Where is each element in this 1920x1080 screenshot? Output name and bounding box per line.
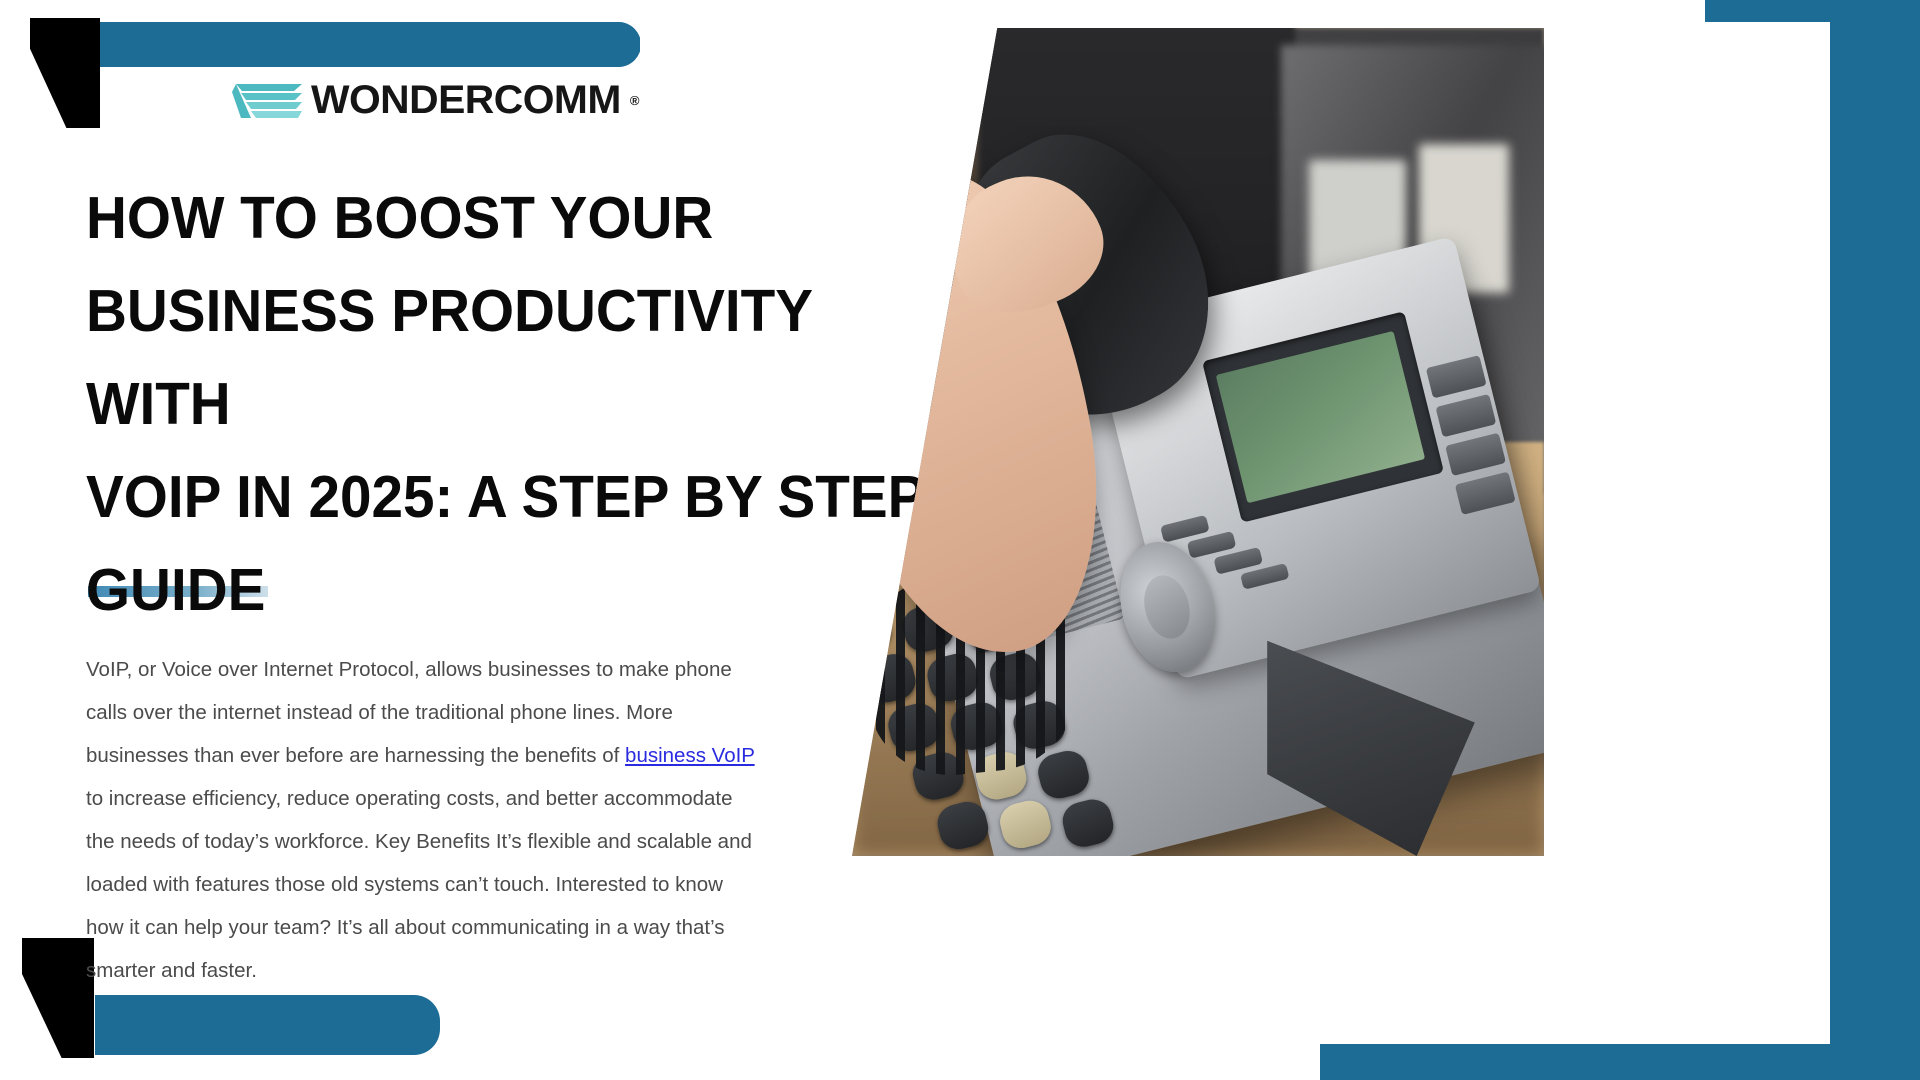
business-voip-link[interactable]: business VoIP [625,744,755,767]
top-left-black-wedge [30,18,100,128]
voip-desk-phone-photo [852,28,1544,856]
bottom-left-black-wedge [22,938,94,1058]
photo-content [852,28,1544,856]
brand-logo[interactable]: WONDERCOMM ® [232,78,639,122]
page-title: HOW TO BOOST YOUR BUSINESS PRODUCTIVITY … [86,172,940,637]
headline-line-2: BUSINESS PRODUCTIVITY WITH [86,265,940,451]
headline-line-4: GUIDE [86,544,940,637]
logo-wordmark: WONDERCOMM [311,80,621,120]
headline-line-3: VOIP IN 2025: A STEP BY STEP [86,451,940,544]
headline-line-1: HOW TO BOOST YOUR [86,172,940,265]
top-left-blue-bar [95,22,640,67]
body-text-after-link: to increase efficiency, reduce operating… [86,787,752,982]
slide-canvas: WONDERCOMM ® HOW TO BOOST YOUR BUSINESS … [0,0,1920,1080]
body-paragraph: VoIP, or Voice over Internet Protocol, a… [86,648,758,992]
wing-mark-icon [232,78,304,122]
bottom-left-blue-bar [95,995,440,1055]
right-blue-strip [1830,0,1920,1080]
registered-trademark-icon: ® [630,93,640,108]
right-bottom-blue-band [1320,1044,1920,1080]
photo-blue-pen [945,78,960,202]
